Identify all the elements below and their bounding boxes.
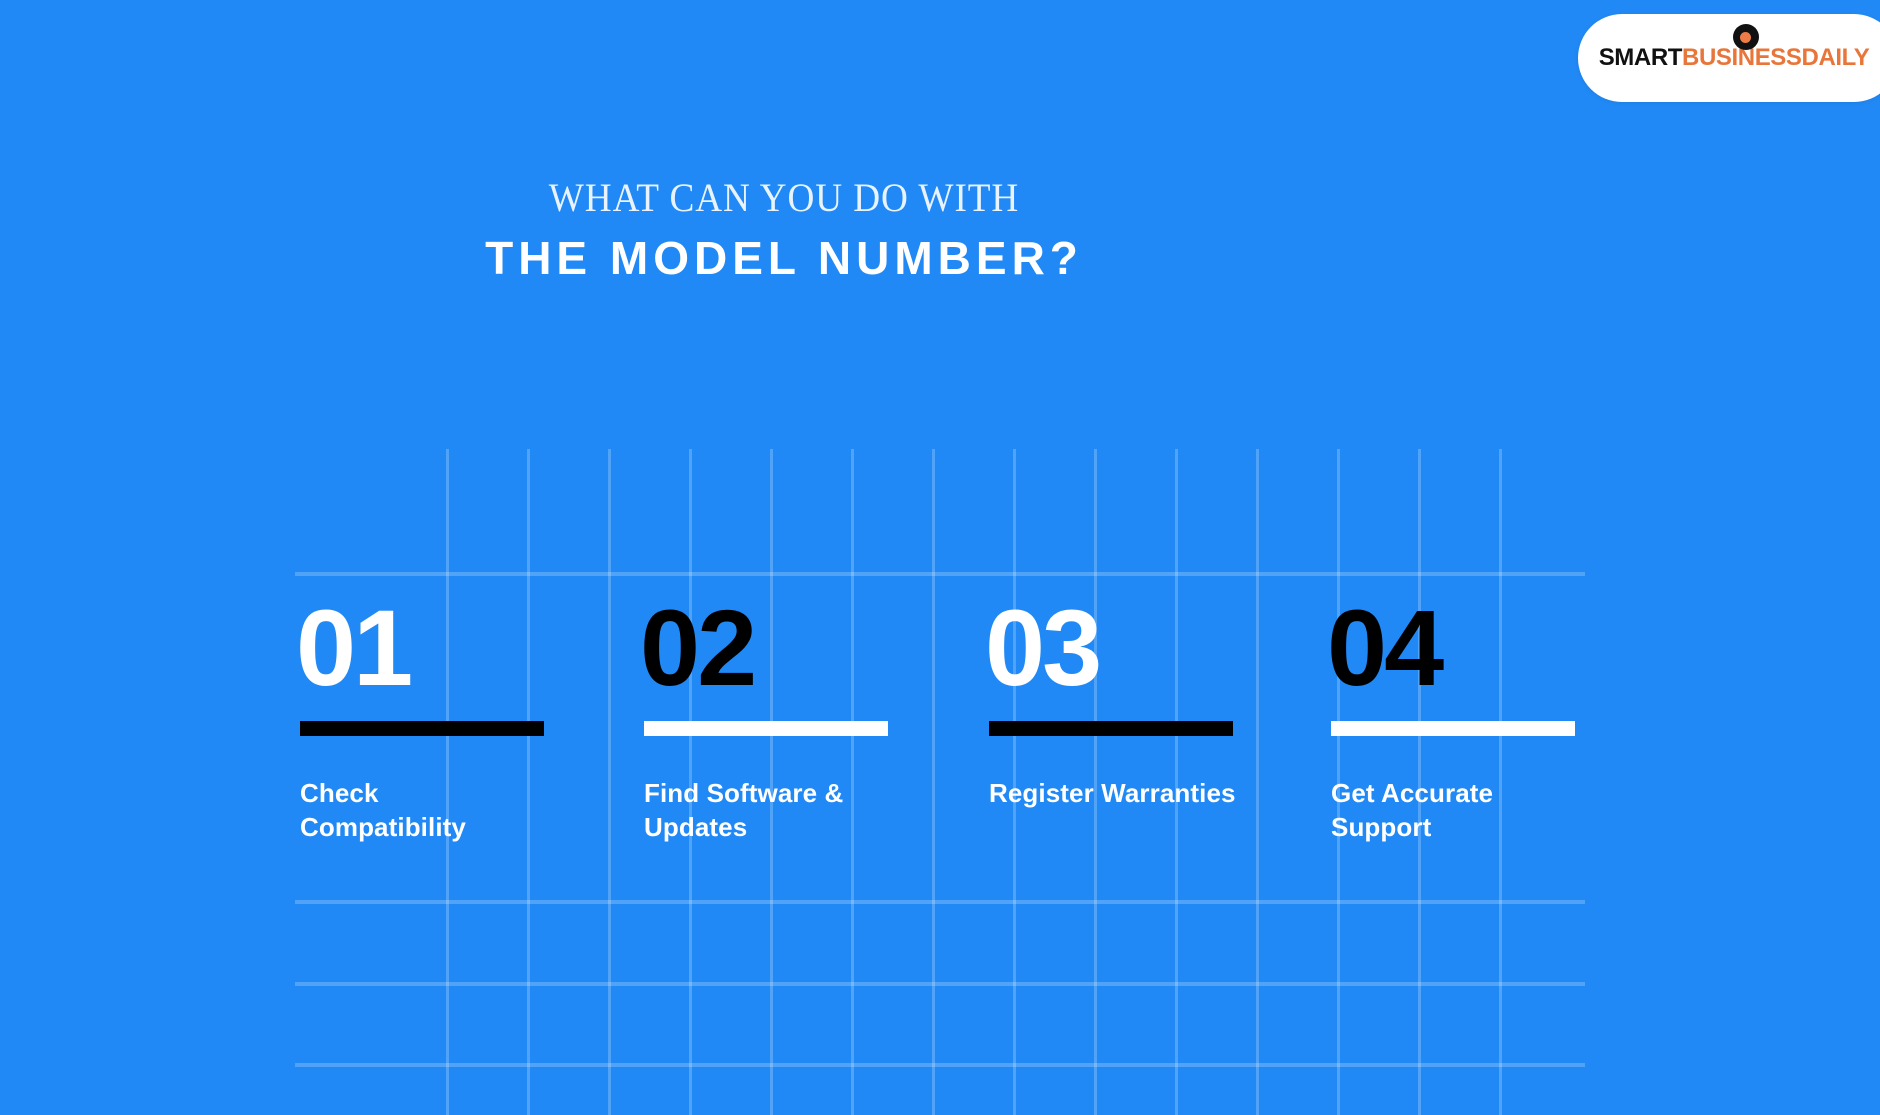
grid-line-horizontal [295,982,1585,986]
logo-wordmark: SMARTBUSINESSDAILY [1599,46,1870,70]
step-number: 04 [1327,592,1611,704]
step-number: 02 [640,592,924,704]
step-label: Find Software & Updates [644,776,894,844]
background-grid [0,0,1880,1115]
step-item: 02Find Software & Updates [644,592,924,844]
eyebrow-text: WHAT CAN YOU DO WITH [55,172,1513,224]
heading-block: WHAT CAN YOU DO WITH THE MODEL NUMBER? [0,172,1568,286]
brand-logo-pill[interactable]: SMARTBUSINESSDAILY [1578,14,1880,102]
step-divider-bar [1331,721,1575,736]
grid-line-horizontal [295,1063,1585,1067]
grid-line-horizontal [295,572,1585,576]
step-divider-bar [989,721,1233,736]
step-divider-bar [300,721,544,736]
logo-text-smart: SMART [1599,46,1682,70]
steps-list: 01Check Compatibility02Find Software & U… [300,592,1590,892]
step-divider-bar [644,721,888,736]
grid-line-horizontal [295,900,1585,904]
step-item: 04Get Accurate Support [1331,592,1611,844]
step-number: 03 [985,592,1269,704]
step-label: Register Warranties [989,776,1239,810]
logo-text-businessdaily: BUSINESSDAILY [1682,46,1869,70]
step-item: 01Check Compatibility [300,592,580,844]
page-title: THE MODEL NUMBER? [0,230,1568,286]
ring-dot-inner-icon [1740,32,1751,43]
step-label: Get Accurate Support [1331,776,1581,844]
step-number: 01 [296,592,580,704]
step-label: Check Compatibility [300,776,550,844]
step-item: 03Register Warranties [989,592,1269,810]
infographic-canvas: SMARTBUSINESSDAILY WHAT CAN YOU DO WITH … [0,0,1880,1115]
ring-dot-icon [1733,24,1759,50]
